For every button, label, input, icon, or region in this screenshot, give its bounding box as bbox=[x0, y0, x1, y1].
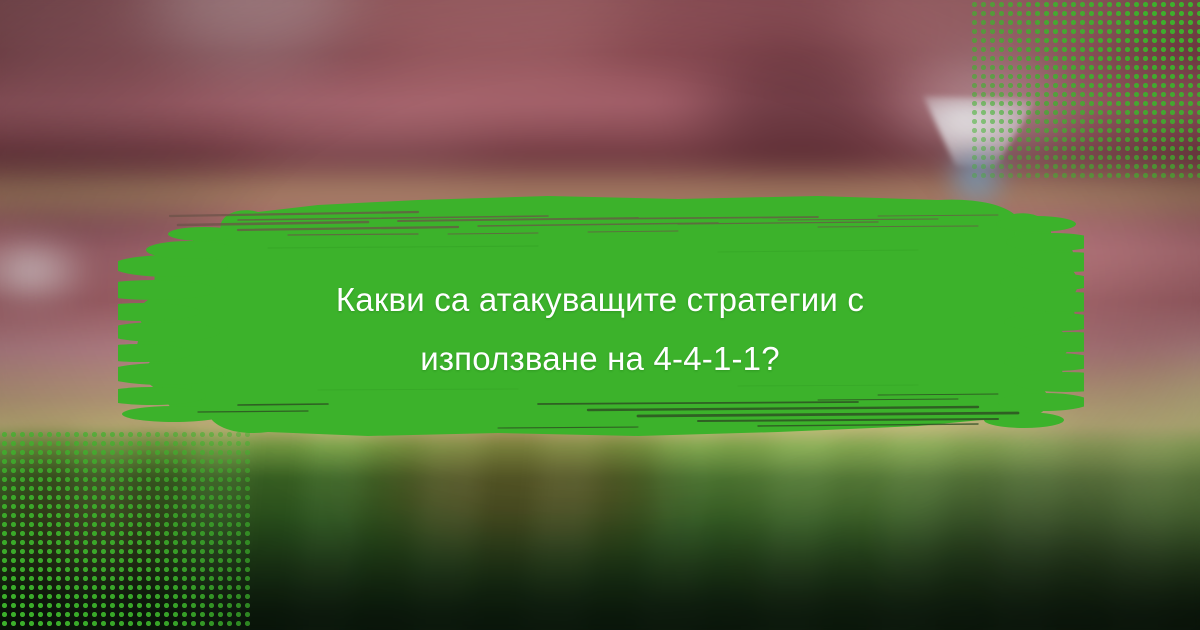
headline-line-2: използване на 4-4-1-1? bbox=[160, 329, 1040, 388]
headline-line-1: Какви са атакуващите стратегии с bbox=[160, 270, 1040, 329]
page-title: Какви са атакуващите стратегии с използв… bbox=[160, 270, 1040, 388]
poster-canvas: Какви са атакуващите стратегии с използв… bbox=[0, 0, 1200, 630]
